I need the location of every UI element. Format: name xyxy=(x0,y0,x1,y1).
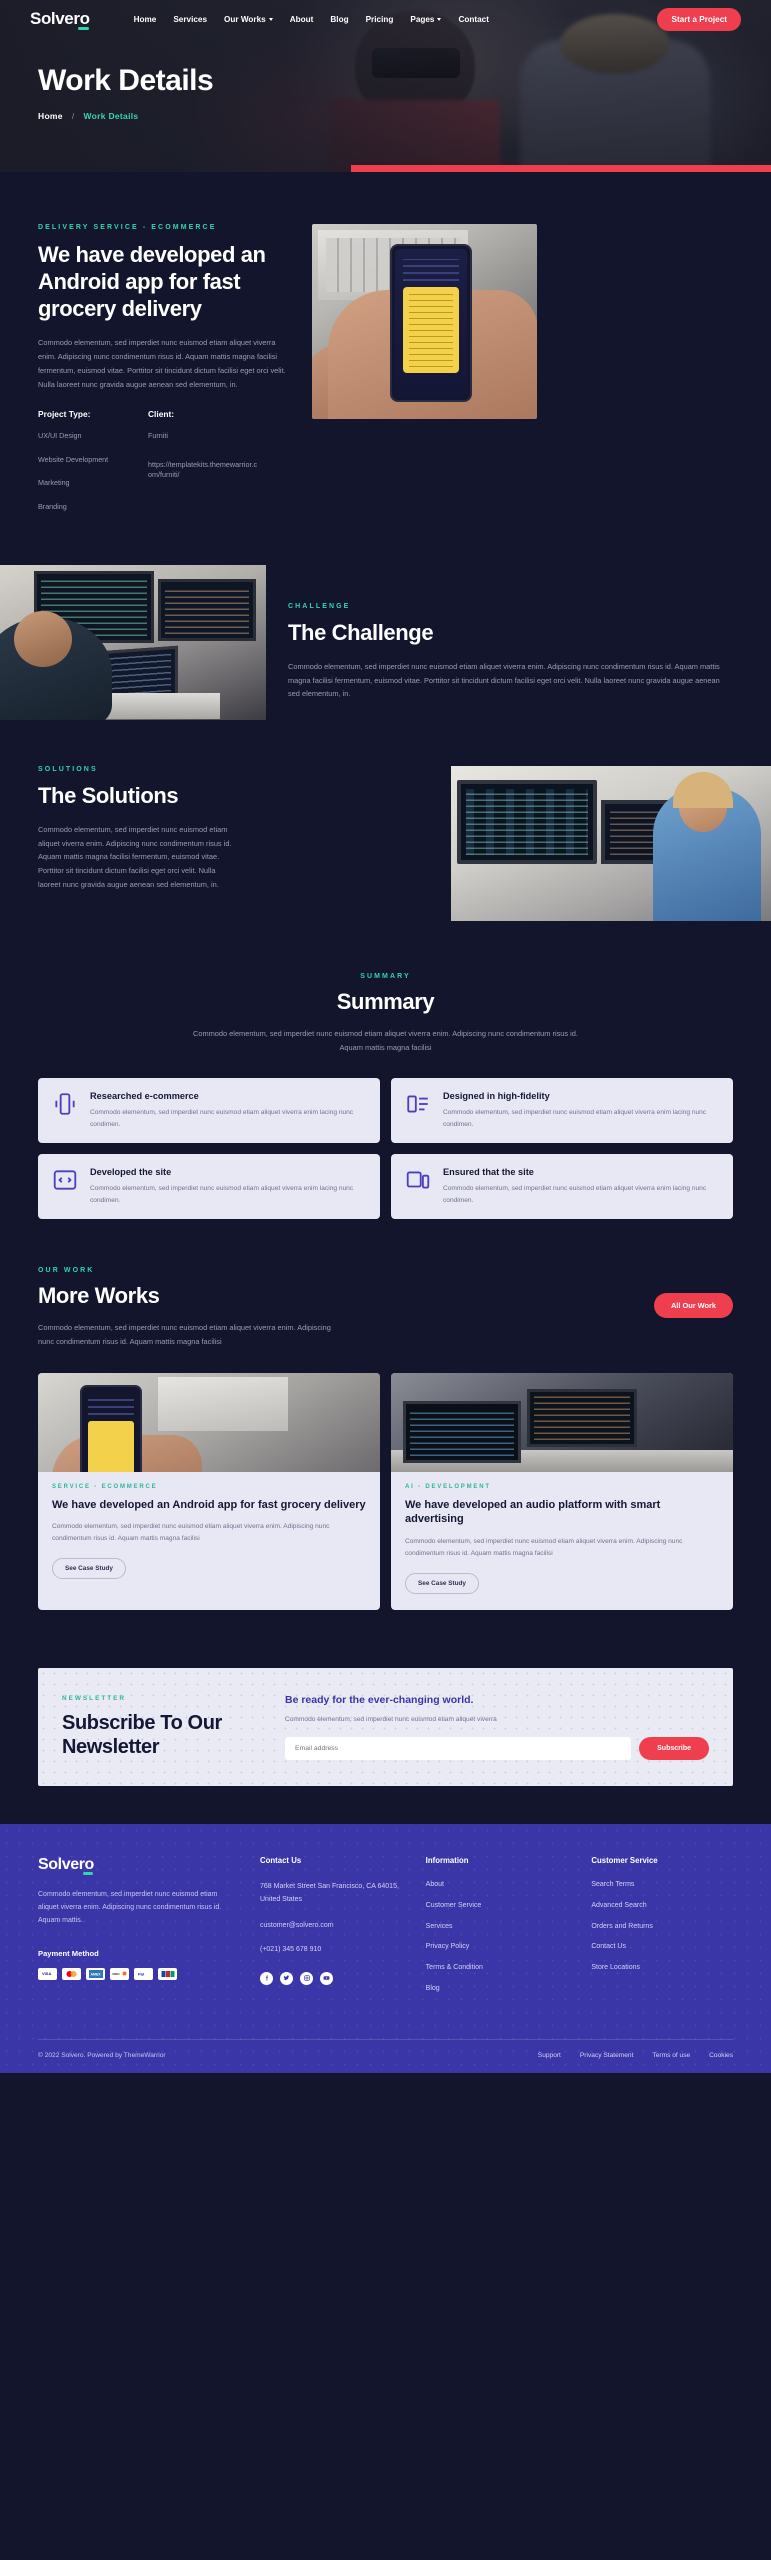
project-type-item: Branding xyxy=(38,502,148,512)
nav-item-contact[interactable]: Contact xyxy=(458,15,488,24)
work-card[interactable]: SERVICE - ECOMMERCE We have developed an… xyxy=(38,1373,380,1610)
summary-description: Commodo elementum, sed imperdiet nunc eu… xyxy=(186,1027,586,1054)
solutions-heading: The Solutions xyxy=(38,783,240,810)
project-type-heading: Project Type: xyxy=(38,409,148,419)
summary-eyebrow: SUMMARY xyxy=(38,973,733,980)
work-card-eyebrow: SERVICE - ECOMMERCE xyxy=(52,1484,366,1490)
footer-link-privacy-statement[interactable]: Privacy Statement xyxy=(580,2052,634,2059)
nav-item-pricing[interactable]: Pricing xyxy=(366,15,394,24)
work-card-desc: Commodo elementum, sed imperdiet nunc eu… xyxy=(405,1536,719,1560)
footer-link-support[interactable]: Support xyxy=(538,2052,561,2059)
client-column: Client: Furniti https://templatekits.the… xyxy=(148,409,258,525)
nav-label: Blog xyxy=(330,15,348,24)
summary-section: SUMMARY Summary Commodo elementum, sed i… xyxy=(0,921,771,1219)
challenge-section: CHALLENGE The Challenge Commodo elementu… xyxy=(0,565,771,720)
mastercard-icon xyxy=(62,1968,81,1980)
work-card-title: We have developed an Android app for fas… xyxy=(52,1498,366,1513)
see-case-study-button[interactable]: See Case Study xyxy=(52,1558,126,1579)
site-logo[interactable]: Solvero xyxy=(30,9,90,29)
logo-underline-accent xyxy=(78,27,89,30)
svg-text:Pal: Pal xyxy=(138,1971,144,1976)
visa-card-icon: VISA xyxy=(38,1968,57,1980)
page-root: Solvero Home Services Our Works About Bl… xyxy=(0,0,771,2073)
paypal-card-icon: Pal xyxy=(134,1968,153,1980)
footer-logo[interactable]: Solvero xyxy=(38,1856,94,1874)
project-type-item: UX/UI Design xyxy=(38,431,148,441)
information-heading: Information xyxy=(426,1856,568,1865)
nav-label: Pages xyxy=(410,15,434,24)
main-navbar: Solvero Home Services Our Works About Bl… xyxy=(0,0,771,38)
breadcrumb-current: Work Details xyxy=(84,111,139,121)
social-links xyxy=(260,1972,402,1985)
project-type-column: Project Type: UX/UI Design Website Devel… xyxy=(38,409,148,525)
nav-label: Pricing xyxy=(366,15,394,24)
more-works-section: OUR WORK More Works Commodo elementum, s… xyxy=(0,1219,771,1610)
breadcrumb-home[interactable]: Home xyxy=(38,111,63,121)
summary-card-title: Ensured that the site xyxy=(443,1167,719,1177)
summary-card-desc: Commodo elementum, sed imperdiet nunc eu… xyxy=(90,1107,366,1130)
summary-card-desc: Commodo elementum, sed imperdiet nunc eu… xyxy=(443,1183,719,1206)
svg-text:AMEX: AMEX xyxy=(90,1972,101,1976)
amex-card-icon: AMEX xyxy=(86,1968,105,1980)
list-layout-icon xyxy=(405,1091,431,1117)
project-description: Commodo elementum, sed imperdiet nunc eu… xyxy=(38,336,294,391)
jcb-card-icon xyxy=(158,1968,177,1980)
hero-accent-bar xyxy=(351,165,771,172)
solutions-description: Commodo elementum, sed imperdiet nunc eu… xyxy=(38,823,240,891)
summary-cards: Researched e-commerce Commodo elementum,… xyxy=(38,1078,733,1219)
footer-link-services[interactable]: Services xyxy=(426,1923,568,1931)
more-works-description: Commodo elementum, sed imperdiet nunc eu… xyxy=(38,1321,338,1348)
nav-label: Contact xyxy=(458,15,488,24)
summary-card-title: Developed the site xyxy=(90,1167,366,1177)
nav-item-pages[interactable]: Pages xyxy=(410,15,441,24)
footer-link-customer-service[interactable]: Customer Service xyxy=(426,1902,568,1910)
summary-card-title: Researched e-commerce xyxy=(90,1091,366,1101)
chevron-down-icon xyxy=(269,18,273,21)
breadcrumb: Home / Work Details xyxy=(38,111,733,121)
footer-link-terms-condition[interactable]: Terms & Condition xyxy=(426,1964,568,1972)
instagram-icon[interactable] xyxy=(300,1972,313,1985)
svg-text:DISC: DISC xyxy=(113,1972,121,1976)
footer-information-column: Information About Customer Service Servi… xyxy=(426,1856,568,2005)
nav-label: Our Works xyxy=(224,15,266,24)
work-card-image xyxy=(391,1373,733,1472)
facebook-icon[interactable] xyxy=(260,1972,273,1985)
breadcrumb-separator: / xyxy=(72,111,75,121)
project-hero-image xyxy=(312,224,537,419)
site-footer: Solvero Commodo elementum, sed imperdiet… xyxy=(0,1824,771,2073)
more-works-eyebrow: OUR WORK xyxy=(38,1267,338,1274)
payment-methods: VISA AMEX DISC Pal xyxy=(38,1968,236,1980)
contact-email[interactable]: customer@solvero.com xyxy=(260,1920,402,1933)
svg-text:VISA: VISA xyxy=(42,1971,51,1976)
summary-card-desc: Commodo elementum, sed imperdiet nunc eu… xyxy=(90,1183,366,1206)
contact-phone[interactable]: (+021) 345 678 910 xyxy=(260,1944,402,1957)
nav-item-about[interactable]: About xyxy=(290,15,314,24)
solutions-image xyxy=(451,766,771,921)
footer-link-contact-us[interactable]: Contact Us xyxy=(591,1943,733,1951)
solutions-eyebrow: SOLUTIONS xyxy=(38,766,240,773)
footer-about-text: Commodo elementum, sed imperdiet nunc eu… xyxy=(38,1889,236,1928)
footer-link-blog[interactable]: Blog xyxy=(426,1985,568,1993)
devices-icon xyxy=(405,1167,431,1193)
client-heading: Client: xyxy=(148,409,258,419)
challenge-eyebrow: CHALLENGE xyxy=(288,603,733,610)
footer-contact-column: Contact Us 768 Market Street San Francis… xyxy=(260,1856,402,2005)
challenge-description: Commodo elementum, sed imperdiet nunc eu… xyxy=(288,660,733,701)
project-type-item: Marketing xyxy=(38,478,148,488)
footer-link-search-terms[interactable]: Search Terms xyxy=(591,1881,733,1889)
contact-heading: Contact Us xyxy=(260,1856,402,1865)
project-type-item: Website Development xyxy=(38,455,148,465)
challenge-heading: The Challenge xyxy=(288,620,733,647)
work-card-eyebrow: AI - DEVELOPMENT xyxy=(405,1484,719,1490)
twitter-icon[interactable] xyxy=(280,1972,293,1985)
nav-item-services[interactable]: Services xyxy=(173,15,207,24)
footer-link-cookies[interactable]: Cookies xyxy=(709,2052,733,2059)
nav-item-our-works[interactable]: Our Works xyxy=(224,15,273,24)
newsletter-eyebrow: NEWSLETTER xyxy=(62,1695,267,1702)
nav-label: Services xyxy=(173,15,207,24)
summary-heading: Summary xyxy=(38,989,733,1016)
footer-brand-column: Solvero Commodo elementum, sed imperdiet… xyxy=(38,1856,236,2005)
start-a-project-button[interactable]: Start a Project xyxy=(657,8,741,31)
newsletter-section: NEWSLETTER Subscribe To Our Newsletter B… xyxy=(0,1610,771,1786)
youtube-icon[interactable] xyxy=(320,1972,333,1985)
footer-bottom-links: Support Privacy Statement Terms of use C… xyxy=(538,2052,733,2059)
work-card-desc: Commodo elementum, sed imperdiet nunc eu… xyxy=(52,1521,366,1545)
client-name: Furniti xyxy=(148,431,258,441)
summary-card[interactable]: Designed in high-fidelity Commodo elemen… xyxy=(391,1078,733,1143)
contact-address: 768 Market Street San Francisco, CA 6401… xyxy=(260,1881,402,1907)
challenge-image xyxy=(0,565,266,720)
nav-label: About xyxy=(290,15,314,24)
all-our-work-button[interactable]: All Our Work xyxy=(654,1293,733,1318)
footer-logo-text: Solvero xyxy=(38,1856,94,1873)
nav-item-home[interactable]: Home xyxy=(134,15,157,24)
summary-card[interactable]: Researched e-commerce Commodo elementum,… xyxy=(38,1078,380,1143)
footer-link-store-locations[interactable]: Store Locations xyxy=(591,1964,733,1972)
nav-label: Home xyxy=(134,15,157,24)
mobile-vibrate-icon xyxy=(52,1091,78,1117)
project-eyebrow: DELIVERY SERVICE - ECOMMERCE xyxy=(38,224,294,231)
navbar-links: Home Services Our Works About Blog Prici… xyxy=(134,15,658,24)
footer-link-terms-of-use[interactable]: Terms of use xyxy=(652,2052,690,2059)
summary-card-title: Designed in high-fidelity xyxy=(443,1091,719,1101)
copyright-text: © 2022 Solvero. Powered by ThemeWarrior xyxy=(38,2052,166,2059)
summary-card[interactable]: Developed the site Commodo elementum, se… xyxy=(38,1154,380,1219)
hero-banner: Solvero Home Services Our Works About Bl… xyxy=(0,0,771,172)
logo-underline-accent xyxy=(83,1872,93,1875)
project-overview-section: DELIVERY SERVICE - ECOMMERCE We have dev… xyxy=(0,172,771,565)
newsletter-heading: Subscribe To Our Newsletter xyxy=(62,1711,267,1760)
site-logo-text: Solvero xyxy=(30,9,90,28)
newsletter-panel: NEWSLETTER Subscribe To Our Newsletter B… xyxy=(38,1668,733,1786)
summary-card[interactable]: Ensured that the site Commodo elementum,… xyxy=(391,1154,733,1219)
more-works-heading: More Works xyxy=(38,1283,338,1310)
project-meta: Project Type: UX/UI Design Website Devel… xyxy=(38,409,294,525)
footer-bottom-bar: © 2022 Solvero. Powered by ThemeWarrior … xyxy=(38,2039,733,2073)
work-card[interactable]: AI - DEVELOPMENT We have developed an au… xyxy=(391,1373,733,1610)
subscribe-button[interactable]: Subscribe xyxy=(639,1737,709,1760)
see-case-study-button[interactable]: See Case Study xyxy=(405,1573,479,1594)
newsletter-description: Commodo elementum, sed imperdiet nunc eu… xyxy=(285,1714,709,1725)
footer-link-about[interactable]: About xyxy=(426,1881,568,1889)
newsletter-subtitle: Be ready for the ever-changing world. xyxy=(285,1694,709,1706)
newsletter-notch xyxy=(38,1657,270,1668)
code-brackets-icon xyxy=(52,1167,78,1193)
work-card-title: We have developed an audio platform with… xyxy=(405,1498,719,1528)
newsletter-form: Subscribe xyxy=(285,1737,709,1760)
footer-link-privacy-policy[interactable]: Privacy Policy xyxy=(426,1943,568,1951)
summary-card-desc: Commodo elementum, sed imperdiet nunc eu… xyxy=(443,1107,719,1130)
solutions-section: SOLUTIONS The Solutions Commodo elementu… xyxy=(0,720,771,921)
email-input[interactable] xyxy=(285,1737,631,1760)
client-url[interactable]: https://templatekits.themewarrior.com/fu… xyxy=(148,460,258,481)
footer-customer-service-column: Customer Service Search Terms Advanced S… xyxy=(591,1856,733,2005)
payment-method-heading: Payment Method xyxy=(38,1949,236,1958)
footer-link-advanced-search[interactable]: Advanced Search xyxy=(591,1902,733,1910)
project-heading: We have developed an Android app for fas… xyxy=(38,242,294,322)
customer-service-heading: Customer Service xyxy=(591,1856,733,1865)
footer-link-orders-returns[interactable]: Orders and Returns xyxy=(591,1923,733,1931)
chevron-down-icon xyxy=(437,18,441,21)
nav-item-blog[interactable]: Blog xyxy=(330,15,348,24)
works-grid: SERVICE - ECOMMERCE We have developed an… xyxy=(38,1373,733,1610)
discover-card-icon: DISC xyxy=(110,1968,129,1980)
work-card-image xyxy=(38,1373,380,1472)
